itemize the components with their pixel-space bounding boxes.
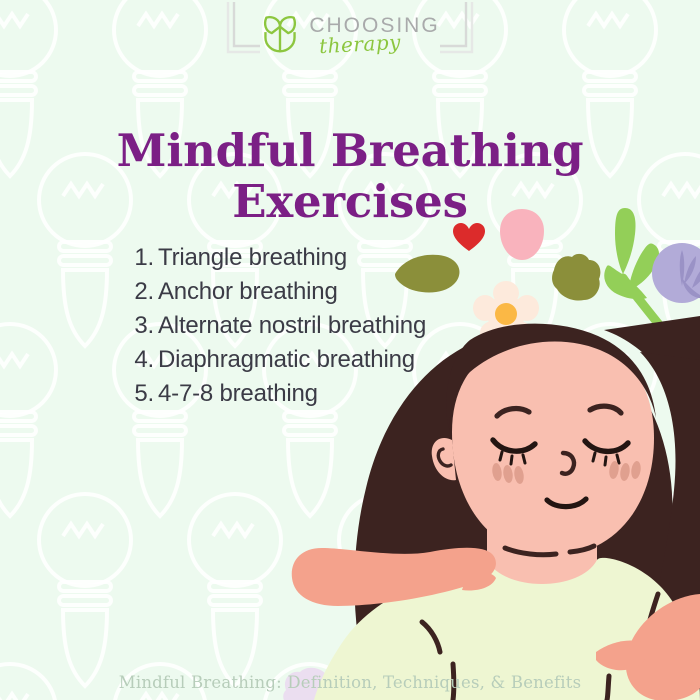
eyebrows	[497, 406, 621, 416]
list-item: 5. 4-7-8 breathing	[128, 381, 426, 408]
list-item-label: Triangle breathing	[158, 245, 347, 272]
list-item-number: 5.	[128, 381, 154, 408]
list-item-label: 4-7-8 breathing	[158, 381, 318, 408]
list-item: 4. Diaphragmatic breathing	[128, 347, 426, 374]
purple-circle-icon	[652, 238, 700, 308]
nose	[562, 453, 574, 474]
brand-name-script: therapy	[319, 30, 440, 56]
brand-logo[interactable]: CHOOSING therapy	[0, 14, 700, 54]
tulip-flower-icon	[498, 207, 546, 262]
list-item: 2. Anchor breathing	[128, 279, 426, 306]
list-item-label: Alternate nostril breathing	[158, 313, 426, 340]
page-title: Mindful Breathing Exercises	[0, 126, 700, 228]
olive-bud-icon	[548, 252, 604, 304]
neck-shape	[487, 500, 597, 612]
list-item-number: 1.	[128, 245, 154, 272]
eyelashes	[500, 452, 619, 465]
list-item-number: 4.	[128, 347, 154, 374]
daisy-flower-icon	[473, 281, 539, 347]
daisy-center-icon	[495, 303, 517, 325]
page-title-line-1: Mindful Breathing	[0, 126, 700, 177]
lavender-blossom-icon	[652, 498, 700, 568]
heart-icon	[452, 222, 486, 252]
collar-line	[505, 546, 594, 555]
blush-marks	[491, 460, 642, 484]
list-item: 3. Alternate nostril breathing	[128, 313, 426, 340]
list-item-number: 2.	[128, 279, 154, 306]
page-title-line-2: Exercises	[0, 177, 700, 228]
leaf-logo-icon	[260, 14, 300, 54]
left-arm	[292, 548, 496, 606]
hair-front	[446, 324, 700, 700]
list-item-label: Diaphragmatic breathing	[158, 347, 415, 374]
face-shape	[432, 336, 654, 556]
footer-caption: Mindful Breathing: Definition, Technique…	[0, 673, 700, 692]
mouth	[547, 499, 586, 507]
breathing-exercises-list: 1. Triangle breathing 2. Anchor breathin…	[88, 245, 426, 407]
infographic-canvas: CHOOSING therapy Mindful Breathing Exerc…	[0, 0, 700, 700]
list-item-label: Anchor breathing	[158, 279, 338, 306]
closed-eyes	[493, 440, 628, 451]
list-item: 1. Triangle breathing	[128, 245, 426, 272]
list-item-number: 3.	[128, 313, 154, 340]
